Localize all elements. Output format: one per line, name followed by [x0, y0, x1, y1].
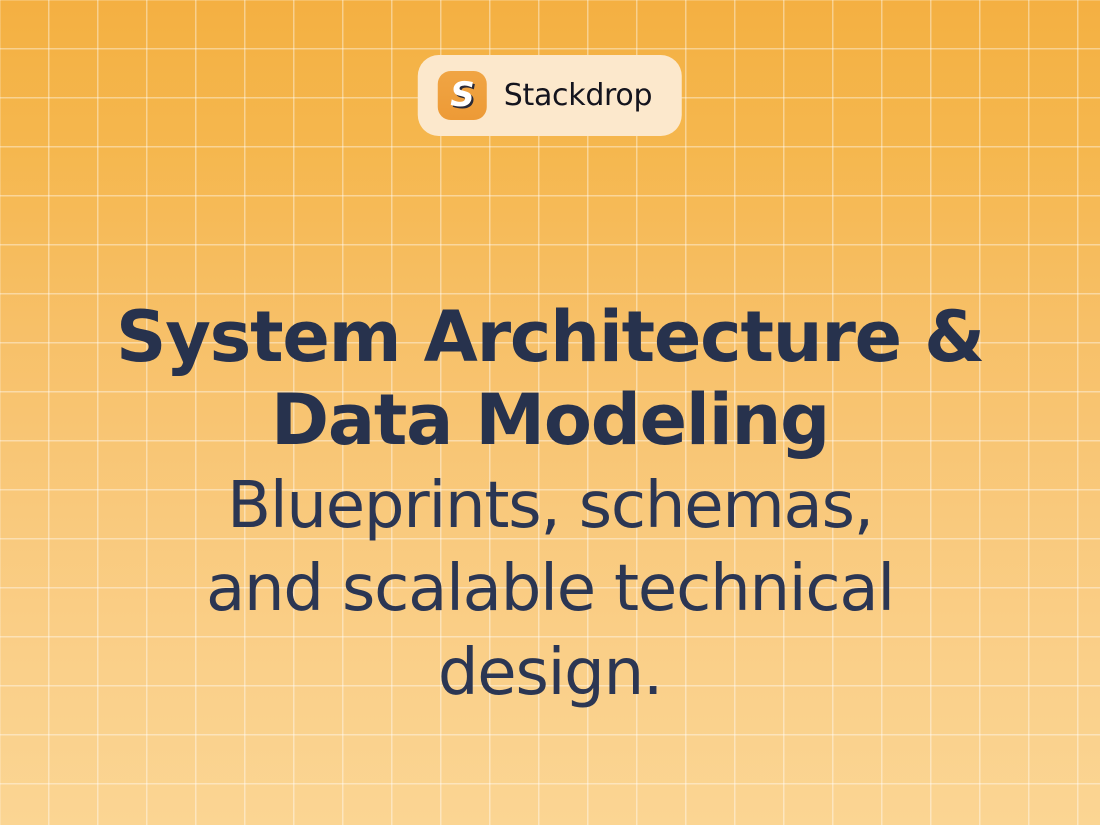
stackdrop-s-mark-icon: S: [438, 71, 487, 120]
headline-line-1: System Architecture &: [60, 296, 1040, 379]
subheadline-line-1: Blueprints, schemas,: [60, 465, 1040, 548]
presentation-slide: S Stackdrop System Architecture & Data M…: [0, 0, 1100, 825]
page-title: System Architecture & Data Modeling: [60, 296, 1040, 461]
subheadline-line-3: design.: [60, 632, 1040, 715]
page-subtitle: Blueprints, schemas, and scalable techni…: [60, 465, 1040, 715]
headline-line-2: Data Modeling: [60, 379, 1040, 462]
subheadline-line-2: and scalable technical: [60, 548, 1040, 631]
brand-logo-pill[interactable]: S Stackdrop: [418, 55, 682, 136]
slide-text-block: System Architecture & Data Modeling Blue…: [0, 296, 1100, 715]
logo-letter: S: [450, 78, 474, 112]
brand-wordmark: Stackdrop: [504, 81, 652, 111]
